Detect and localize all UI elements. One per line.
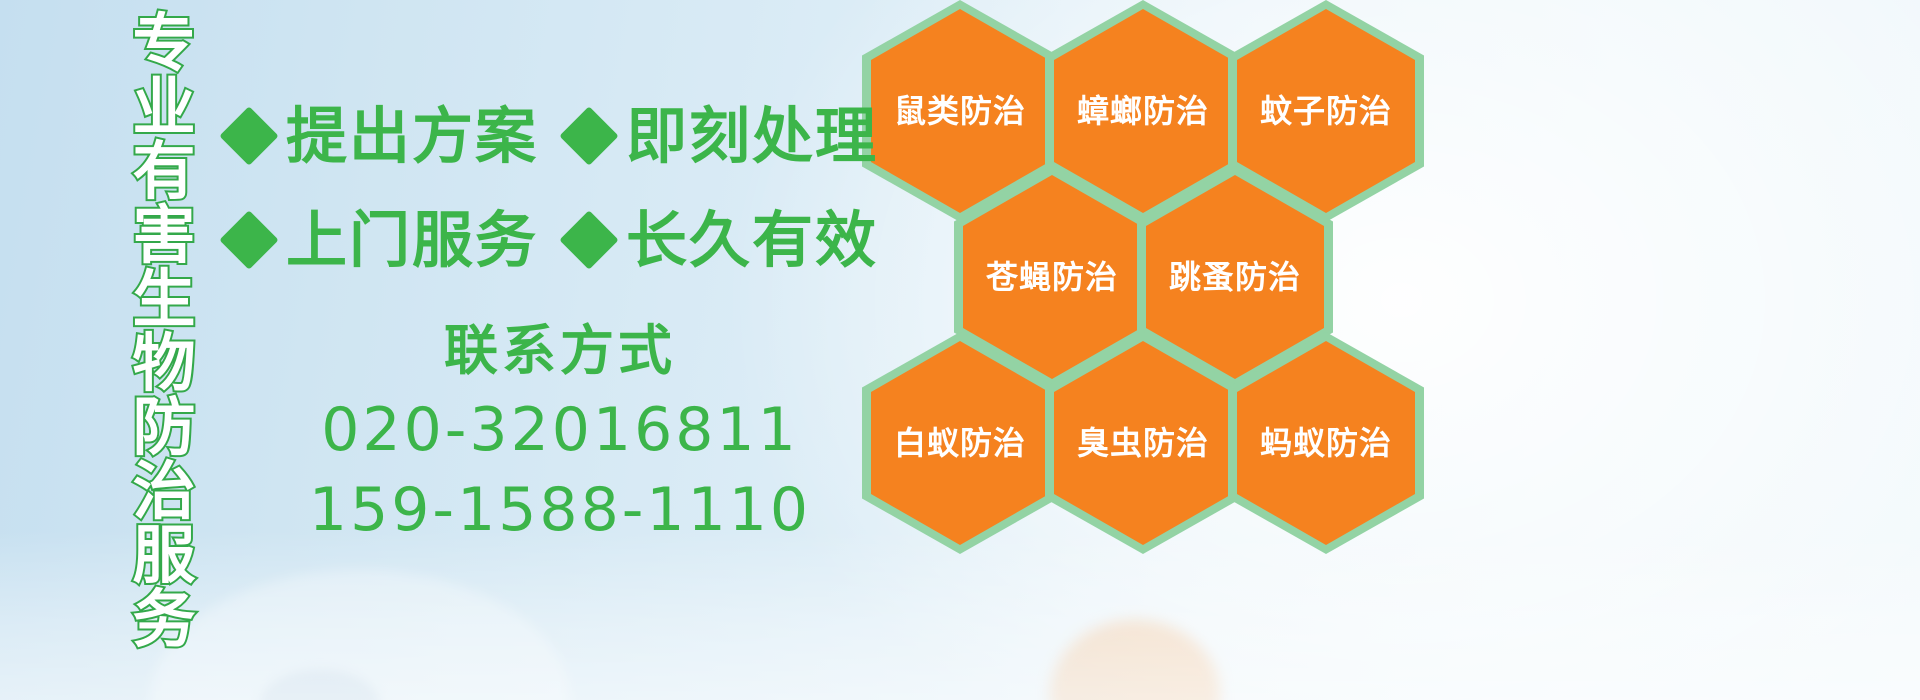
- vertical-headline-char: 治: [133, 460, 196, 524]
- vertical-headline-char: 物: [133, 332, 196, 396]
- diamond-bullet-icon: [219, 106, 278, 165]
- contact-phone-mobile[interactable]: 159-1588-1110: [250, 470, 870, 550]
- vertical-headline-char: 业: [133, 76, 196, 140]
- feature-label: 上门服务: [286, 210, 538, 271]
- feature-row: 上门服务 长久有效: [228, 188, 878, 292]
- feature-item: 长久有效: [568, 210, 878, 271]
- feature-list: 提出方案 即刻处理 上门服务 长久有效: [228, 84, 878, 292]
- hexagon-ant-control[interactable]: 蚂蚁防治: [1228, 332, 1424, 554]
- feature-label: 长久有效: [626, 210, 878, 271]
- hexagon-label: 蚊子防治: [1260, 94, 1392, 128]
- hexagon-label: 臭虫防治: [1077, 426, 1209, 460]
- hexagon-label: 苍蝇防治: [986, 260, 1118, 294]
- feature-label: 即刻处理: [626, 106, 878, 167]
- vertical-headline-char: 有: [133, 140, 196, 204]
- diamond-bullet-icon: [559, 210, 618, 269]
- vertical-headline-char: 害: [133, 204, 196, 268]
- background-blob-small: [260, 670, 380, 700]
- hexagon-termite-control[interactable]: 白蚁防治: [862, 332, 1058, 554]
- contact-phone-landline[interactable]: 020-32016811: [250, 390, 870, 470]
- feature-item: 即刻处理: [568, 106, 878, 167]
- vertical-headline-char: 专: [133, 12, 196, 76]
- vertical-headline: 专 业 有 害 生 物 防 治 服 务: [104, 12, 224, 672]
- vertical-headline-char: 防: [133, 396, 196, 460]
- feature-row: 提出方案 即刻处理: [228, 84, 878, 188]
- vertical-headline-char: 服: [133, 524, 196, 588]
- feature-label: 提出方案: [286, 106, 538, 167]
- pest-control-banner: 专 业 有 害 生 物 防 治 服 务 提出方案 即刻处理 上门服务: [0, 0, 1920, 700]
- hexagon-label: 蚂蚁防治: [1260, 426, 1392, 460]
- feature-item: 提出方案: [228, 106, 538, 167]
- hexagon-label: 蟑螂防治: [1077, 94, 1209, 128]
- vertical-headline-char: 务: [133, 588, 196, 652]
- contact-block: 联系方式 020-32016811 159-1588-1110: [250, 312, 870, 550]
- diamond-bullet-icon: [559, 106, 618, 165]
- hexagon-label: 白蚁防治: [894, 426, 1026, 460]
- hexagon-label: 跳蚤防治: [1169, 260, 1301, 294]
- hexagon-bedbug-control[interactable]: 臭虫防治: [1045, 332, 1241, 554]
- feature-item: 上门服务: [228, 210, 538, 271]
- hexagon-label: 鼠类防治: [894, 94, 1026, 128]
- diamond-bullet-icon: [219, 210, 278, 269]
- contact-title: 联系方式: [250, 312, 870, 390]
- service-hexagon-cluster: 鼠类防治 蟑螂防治 蚊子防治 苍蝇防治 跳蚤防治: [862, 0, 1462, 700]
- vertical-headline-char: 生: [133, 268, 196, 332]
